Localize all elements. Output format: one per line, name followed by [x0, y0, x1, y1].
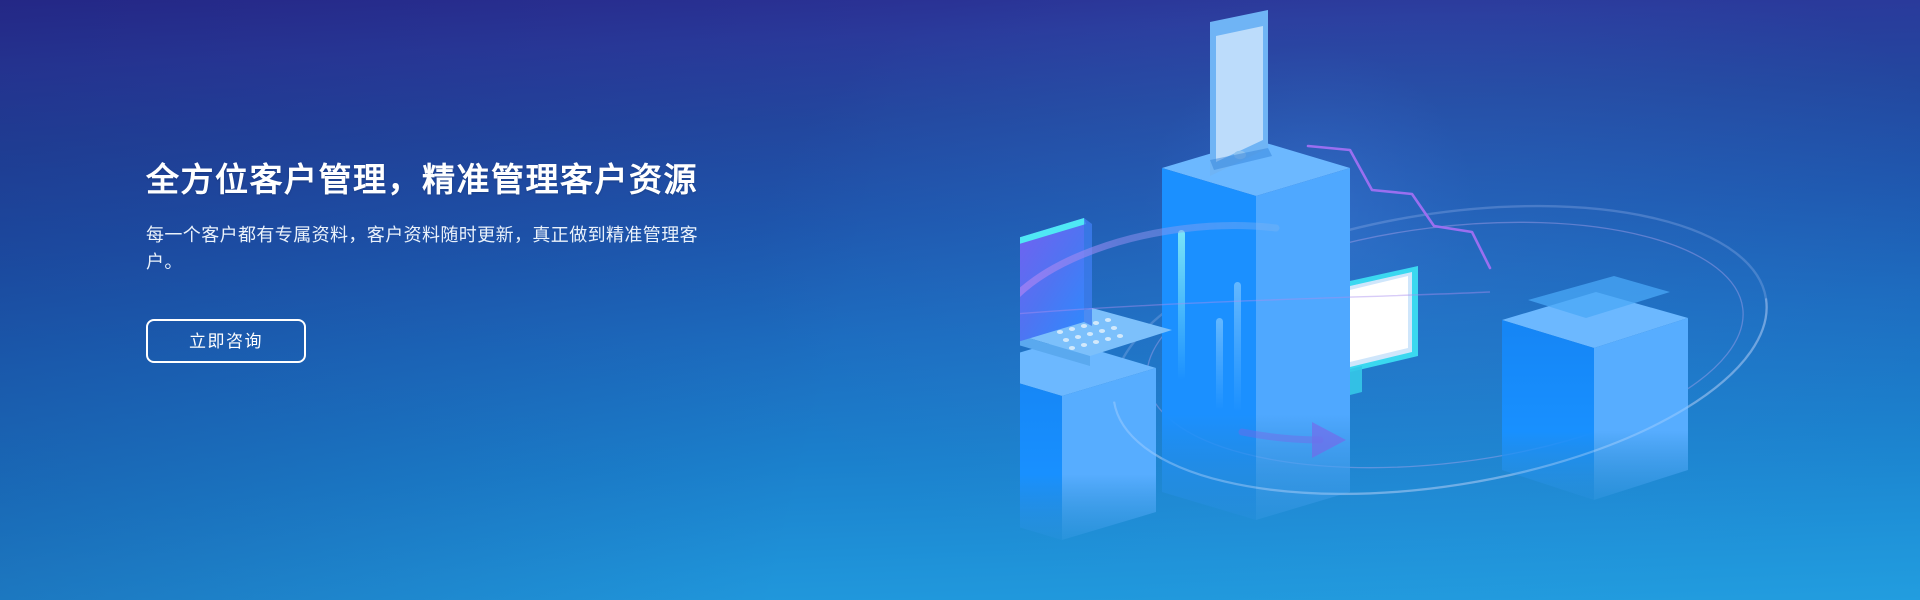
hero-subtitle: 每一个客户都有专属资料，客户资料随时更新，真正做到精准管理客户。 — [146, 222, 731, 278]
hero-illustration — [1020, 0, 1920, 600]
light-streak-2 — [1216, 318, 1223, 410]
hero-copy: 全方位客户管理，精准管理客户资源 每一个客户都有专属资料，客户资料随时更新，真正… — [146, 160, 786, 363]
page-title: 全方位客户管理，精准管理客户资源 — [146, 160, 786, 200]
device-tablet — [1210, 10, 1272, 176]
hero-banner: 全方位客户管理，精准管理客户资源 每一个客户都有专属资料，客户资料随时更新，真正… — [0, 0, 1920, 600]
light-streak-1 — [1178, 230, 1185, 380]
pillar-right — [1502, 292, 1688, 500]
pillar-center — [1162, 140, 1350, 520]
consult-now-button[interactable]: 立即咨询 — [146, 319, 306, 363]
